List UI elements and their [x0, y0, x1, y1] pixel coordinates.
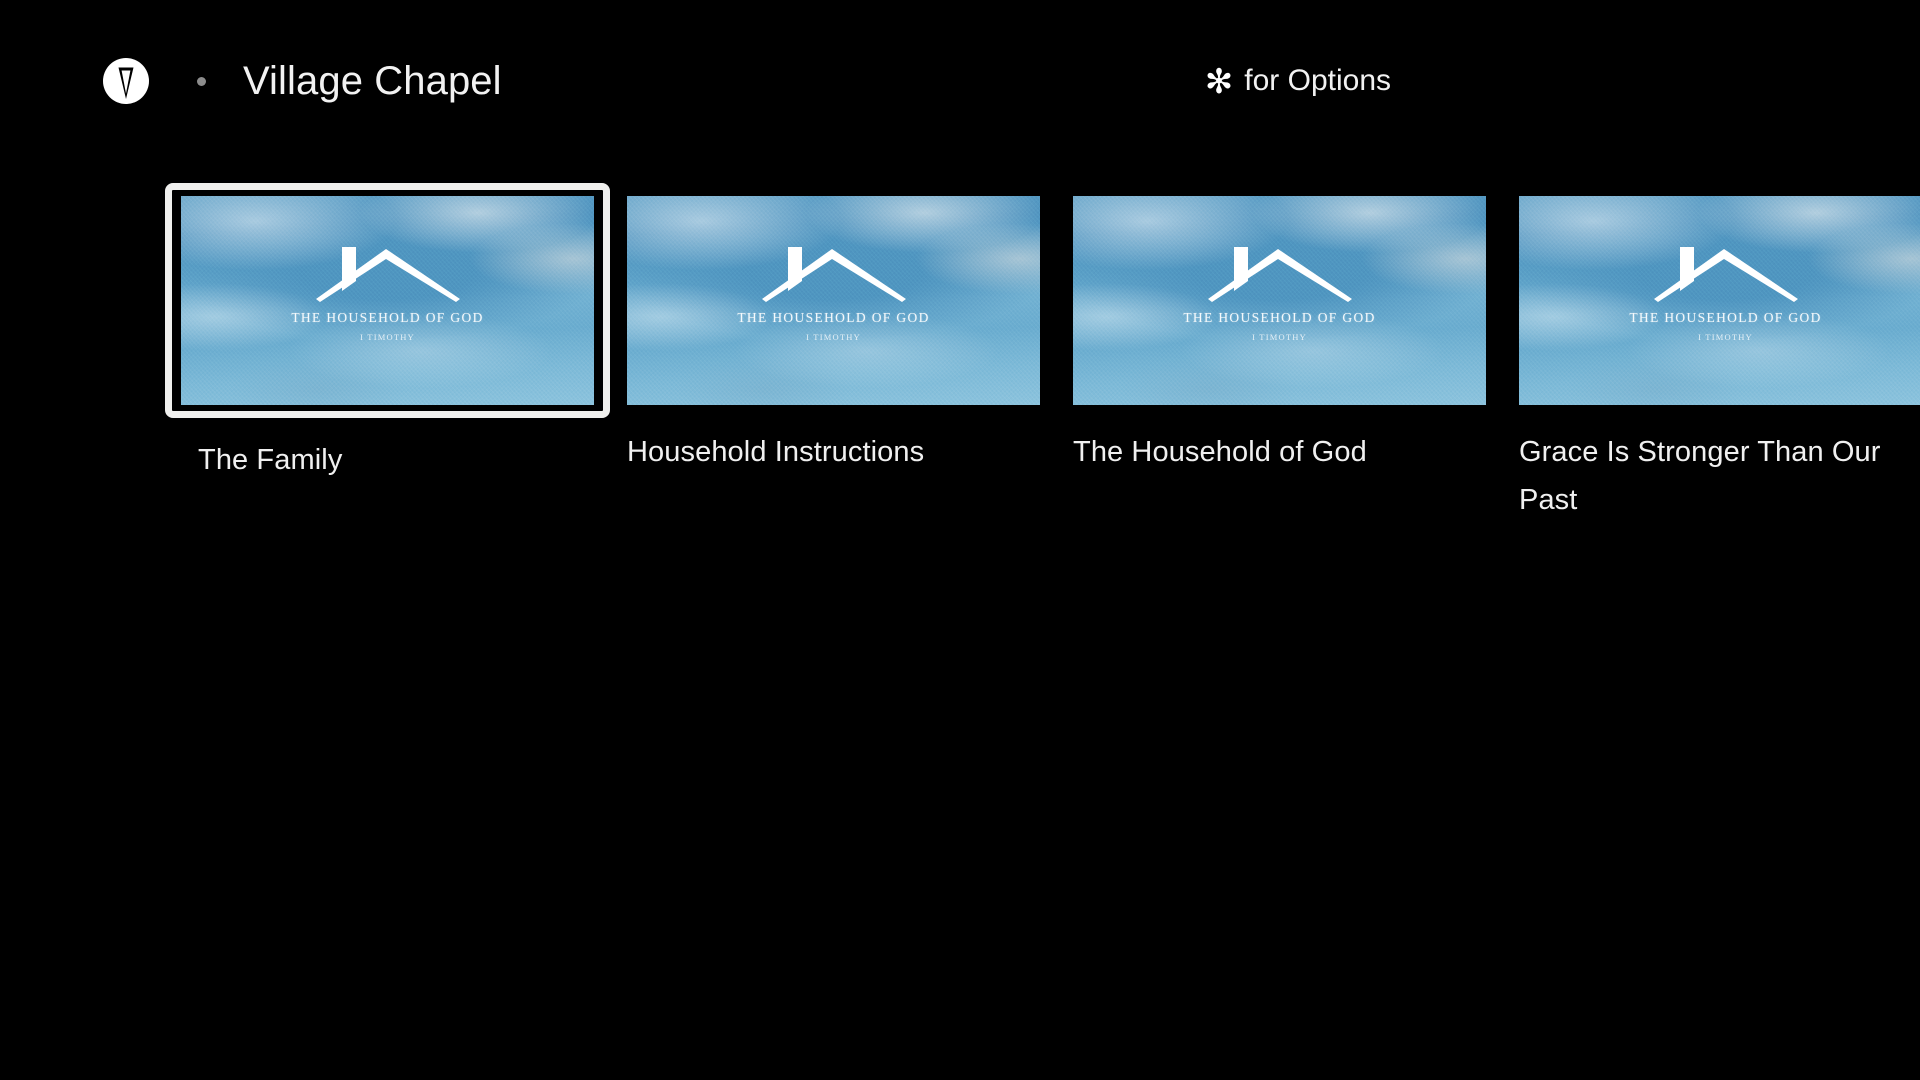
artwork-title: THE HOUSEHOLD OF GOD [737, 310, 929, 326]
sermon-thumbnail[interactable]: THE HOUSEHOLD OF GOD I TIMOTHY [181, 196, 594, 405]
sermon-card[interactable]: THE HOUSEHOLD OF GOD I TIMOTHY Grace Is … [1519, 196, 1920, 524]
sermon-card[interactable]: THE HOUSEHOLD OF GOD I TIMOTHY Household… [627, 196, 1040, 524]
artwork-subtitle: I TIMOTHY [1252, 332, 1307, 342]
sermon-card-title: The Family [198, 436, 578, 484]
artwork-subtitle: I TIMOTHY [1698, 332, 1753, 342]
sermon-card-title: Household Instructions [627, 428, 1007, 476]
asterisk-icon: ✻ [1205, 63, 1234, 101]
sermon-thumbnail[interactable]: THE HOUSEHOLD OF GOD I TIMOTHY [627, 196, 1040, 405]
village-circle-v-logo-icon [103, 58, 149, 104]
sermon-thumbnail-wrap[interactable]: THE HOUSEHOLD OF GOD I TIMOTHY [181, 196, 594, 405]
sermon-card-title: Grace Is Stronger Than Our Past [1519, 428, 1899, 524]
sermon-grid: THE HOUSEHOLD OF GOD I TIMOTHY The Famil… [181, 196, 1881, 524]
app-header: Village Chapel ✻ for Options [0, 0, 1920, 150]
artwork-overlay: THE HOUSEHOLD OF GOD I TIMOTHY [1073, 196, 1486, 405]
artwork-subtitle: I TIMOTHY [360, 332, 415, 342]
artwork-overlay: THE HOUSEHOLD OF GOD I TIMOTHY [627, 196, 1040, 405]
house-roof-icon [308, 241, 468, 303]
house-roof-icon [754, 241, 914, 303]
artwork-title: THE HOUSEHOLD OF GOD [1183, 310, 1375, 326]
brand: Village Chapel [103, 58, 502, 104]
artwork-title: THE HOUSEHOLD OF GOD [1629, 310, 1821, 326]
sermon-thumbnail-wrap[interactable]: THE HOUSEHOLD OF GOD I TIMOTHY [1073, 196, 1486, 405]
sermon-thumbnail[interactable]: THE HOUSEHOLD OF GOD I TIMOTHY [1073, 196, 1486, 405]
options-hint[interactable]: ✻ for Options [1205, 62, 1391, 100]
sermon-thumbnail-wrap[interactable]: THE HOUSEHOLD OF GOD I TIMOTHY [1519, 196, 1920, 405]
house-roof-icon [1200, 241, 1360, 303]
sermon-card[interactable]: THE HOUSEHOLD OF GOD I TIMOTHY The Famil… [181, 196, 594, 524]
artwork-title: THE HOUSEHOLD OF GOD [291, 310, 483, 326]
bullet-dot-icon [197, 77, 206, 86]
options-hint-label: for Options [1244, 62, 1391, 100]
house-roof-icon [1646, 241, 1806, 303]
page-title: Village Chapel [243, 58, 502, 104]
artwork-subtitle: I TIMOTHY [806, 332, 861, 342]
sermon-card[interactable]: THE HOUSEHOLD OF GOD I TIMOTHY The House… [1073, 196, 1486, 524]
artwork-overlay: THE HOUSEHOLD OF GOD I TIMOTHY [181, 196, 594, 405]
sermon-thumbnail-wrap[interactable]: THE HOUSEHOLD OF GOD I TIMOTHY [627, 196, 1040, 405]
sermon-card-title: The Household of God [1073, 428, 1453, 476]
sermon-thumbnail[interactable]: THE HOUSEHOLD OF GOD I TIMOTHY [1519, 196, 1920, 405]
artwork-overlay: THE HOUSEHOLD OF GOD I TIMOTHY [1519, 196, 1920, 405]
